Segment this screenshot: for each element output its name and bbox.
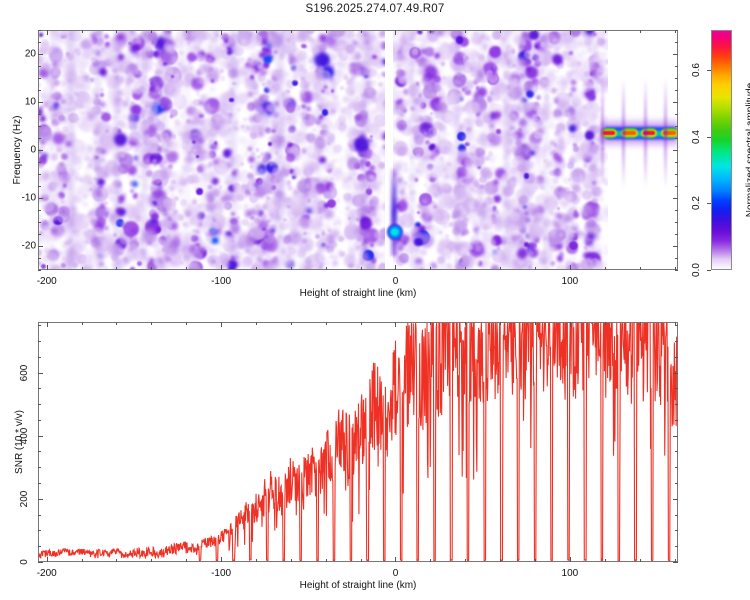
spectrogram-speckle — [369, 175, 372, 178]
spectrogram-speckle — [245, 249, 250, 254]
snr-xticklabel: 0 — [393, 568, 399, 579]
spectrogram-xtick — [221, 30, 222, 35]
snr-ytick-minor — [675, 451, 678, 452]
spectrogram-speckle — [417, 134, 425, 142]
spectrogram-speckle — [337, 155, 347, 165]
spectrogram-speckle — [399, 112, 404, 117]
spectrogram-xtick-minor — [430, 267, 431, 270]
snr-ytick-minor — [38, 341, 41, 342]
spectrogram-speckle — [107, 225, 113, 231]
spectrogram-speckle — [338, 123, 348, 133]
spectrogram-speckle — [377, 238, 386, 247]
spectrogram-speckle — [529, 30, 539, 40]
spectrogram-speckle — [367, 209, 375, 217]
spectrogram-ytick — [38, 54, 43, 55]
spectrogram-speckle — [556, 213, 562, 219]
spectrogram-speckle — [237, 194, 244, 201]
spectrogram-speckle — [420, 249, 427, 256]
spectrogram-xticklabel: 100 — [562, 276, 579, 287]
spectrogram-speckle — [578, 90, 581, 93]
snr-xtick-minor — [430, 559, 431, 562]
spectrogram-yticklabel: 10 — [16, 97, 36, 108]
spectrogram-xtick-minor — [535, 267, 536, 270]
spectrogram-speckle — [598, 197, 604, 203]
spectrogram-speckle — [578, 242, 583, 247]
spectrogram-speckle — [529, 251, 532, 254]
spectrogram-speckle — [450, 90, 453, 93]
spectrogram-speckle — [596, 54, 601, 59]
spectrogram-speckle — [244, 152, 248, 156]
spectrogram-speckle — [38, 214, 43, 220]
colorbar-ticklabel: 0.4 — [691, 130, 702, 144]
spectrogram-speckle — [336, 199, 340, 203]
snr-xtick — [221, 322, 222, 327]
snr-ytick-minor — [675, 341, 678, 342]
spectrogram-vertical-band — [142, 30, 147, 270]
spectrogram-speckle — [266, 104, 274, 112]
spectrogram-speckle — [563, 178, 568, 183]
spectrogram-speckle — [191, 44, 202, 55]
spectrogram-speckle — [461, 232, 465, 236]
spectrogram-xtick-minor — [82, 30, 83, 33]
spectrogram-speckle — [553, 179, 556, 182]
spectrogram-xtick-minor — [500, 267, 501, 270]
spectrogram-speckle — [260, 69, 265, 74]
spectrogram-yticklabel: -20 — [16, 241, 36, 252]
spectrogram-speckle — [431, 80, 435, 84]
spectrogram-vertical-band — [51, 30, 54, 270]
spectrogram-ytick — [38, 102, 43, 103]
spectrogram-speckle — [398, 246, 403, 251]
snr-xtick-minor — [361, 559, 362, 562]
spectrogram-speckle — [423, 156, 427, 160]
spectrogram-ytick-minor — [675, 234, 678, 235]
spectrogram-vertical-band — [348, 30, 353, 270]
spectrogram-speckle — [338, 60, 342, 64]
spectrogram-speckle — [305, 183, 311, 189]
spectrogram-speckle — [579, 231, 585, 237]
spectrogram-ytick-minor — [675, 222, 678, 223]
spectrogram-speckle — [221, 76, 226, 81]
spectrogram-ytick-minor — [38, 234, 41, 235]
spectrogram-speckle — [156, 258, 160, 262]
spectrogram-ytick — [673, 246, 678, 247]
spectrogram-speckle — [563, 98, 566, 101]
spectrogram-speckle — [577, 62, 580, 65]
spectrogram-speckle — [82, 221, 89, 228]
spectrogram-speckle — [487, 197, 494, 204]
spectrogram-vertical-band — [303, 30, 306, 270]
spectrogram-vertical-band — [482, 30, 484, 270]
snr-ytick-minor — [38, 388, 41, 389]
snr-xtick-minor — [465, 559, 466, 562]
spectrogram-xticklabel: -100 — [211, 276, 231, 287]
spectrogram-speckle — [130, 267, 134, 270]
spectrogram-speckle — [239, 230, 242, 233]
spectrogram-vertical-band — [317, 30, 321, 270]
snr-xtick — [395, 322, 396, 327]
spectrogram-vertical-band — [230, 30, 237, 270]
spectrogram-speckle — [171, 256, 182, 267]
spectrogram-speckle — [85, 167, 89, 171]
spectrogram-speckle — [338, 236, 344, 242]
spectrogram-speckle — [421, 108, 426, 113]
spectrogram-xtick-minor — [151, 30, 152, 33]
spectrogram-speckle — [550, 185, 555, 190]
spectrogram-xtick-minor — [151, 267, 152, 270]
spectrogram-speckle — [129, 63, 137, 71]
spectrogram-speckle — [260, 148, 263, 151]
spectrogram-speckle — [548, 59, 551, 62]
spectrogram-speckle — [340, 86, 344, 90]
snr-panel — [38, 322, 678, 562]
spectrogram-speckle — [486, 192, 489, 195]
spectrogram-speckle — [87, 87, 91, 91]
spectrogram-speckle — [415, 58, 418, 61]
spectrogram-speckle — [469, 184, 474, 189]
snr-xtick-minor — [151, 322, 152, 325]
spectrogram-speckle — [324, 203, 329, 208]
spectrogram-speckle — [562, 250, 566, 254]
spectrogram-speckle — [424, 90, 431, 97]
spectrogram-speckle — [549, 110, 554, 115]
spectrogram-speckle — [130, 45, 138, 53]
snr-xtick-minor — [151, 559, 152, 562]
spectrogram-speckle — [192, 107, 196, 111]
spectrogram-speckle — [492, 86, 501, 95]
spectrogram-speckle — [88, 113, 94, 119]
spectrogram-xtick-minor — [605, 267, 606, 270]
spectrogram-speckle — [101, 187, 108, 194]
spectrogram-speckle — [221, 33, 229, 41]
spectrogram-speckle — [488, 151, 494, 157]
spectrogram-speckle — [562, 164, 565, 167]
spectrogram-speckle — [152, 124, 156, 128]
spectrogram-speckle — [295, 99, 299, 103]
spectrogram-speckle — [266, 254, 270, 258]
spectrogram-speckle — [172, 58, 175, 61]
spectrogram-speckle — [560, 172, 565, 177]
spectrogram-xtick-minor — [640, 267, 641, 270]
spectrogram-xtick — [395, 265, 396, 270]
spectrogram-speckle — [39, 163, 44, 168]
spectrogram-speckle — [319, 70, 331, 82]
spectrogram-speckle — [122, 203, 125, 206]
spectrogram-ytick-minor — [675, 30, 678, 31]
spectrogram-speckle — [62, 89, 67, 94]
spectrogram-speckle — [489, 46, 501, 58]
snr-ytick — [38, 562, 43, 563]
spectrogram-speckle — [475, 261, 479, 265]
spectrogram-speckle — [492, 241, 496, 245]
spectrogram-speckle — [168, 171, 177, 180]
spectrogram-ytick-minor — [675, 126, 678, 127]
spectrogram-speckle — [532, 118, 542, 128]
spectrogram-speckle — [196, 90, 199, 93]
spectrogram-speckle — [567, 72, 571, 76]
spectrogram-streak-sideband — [644, 78, 647, 188]
snr-ytick-minor — [38, 546, 41, 547]
spectrogram-streak-sideband — [601, 78, 604, 188]
spectrogram-xtick — [570, 265, 571, 270]
snr-xticklabel: -200 — [37, 568, 57, 579]
spectrogram-ytick — [38, 198, 43, 199]
spectrogram-speckle — [196, 54, 203, 61]
spectrogram-speckle — [53, 87, 58, 92]
spectrogram-ytick-minor — [675, 270, 678, 271]
spectrogram-speckle — [194, 187, 198, 191]
spectrogram-ytick-minor — [675, 138, 678, 139]
spectrogram-speckle — [466, 107, 475, 116]
spectrogram-speckle — [399, 189, 405, 195]
spectrogram-speckle — [54, 80, 60, 86]
snr-ytick — [38, 373, 43, 374]
spectrogram-speckle — [403, 49, 409, 55]
spectrogram-speckle — [416, 170, 423, 177]
spectrogram-vertical-band — [572, 30, 576, 270]
spectrogram-speckle — [377, 74, 381, 78]
spectrogram-speckle — [171, 222, 178, 229]
snr-xtick-minor — [291, 322, 292, 325]
spectrogram-xtick-minor — [291, 30, 292, 33]
spectrogram-speckle — [560, 84, 568, 92]
spectrogram-speckle — [242, 267, 246, 270]
spectrogram-ytick — [38, 150, 43, 151]
spectrogram-speckle — [77, 63, 87, 73]
spectrogram-speckle — [334, 69, 342, 77]
spectrogram-xtick-minor — [326, 30, 327, 33]
colorbar-ticklabel: 0.0 — [691, 263, 702, 277]
spectrogram-speckle — [169, 188, 172, 191]
spectrogram-speckle — [39, 33, 43, 37]
spectrogram-speckle — [258, 220, 268, 230]
snr-xtick-minor — [186, 559, 187, 562]
spectrogram-speckle — [354, 241, 357, 244]
spectrogram-ytick-minor — [38, 30, 41, 31]
spectrogram-speckle — [151, 213, 159, 221]
spectrogram-vertical-band — [67, 30, 75, 270]
spectrogram-speckle — [87, 119, 95, 127]
spectrogram-speckle — [120, 153, 125, 158]
spectrogram-speckle — [240, 165, 244, 169]
spectrogram-vertical-band — [590, 30, 597, 270]
spectrogram-xtick-minor — [500, 30, 501, 33]
snr-ytick-minor — [675, 515, 678, 516]
spectrogram-speckle — [448, 132, 452, 136]
spectrogram-speckle — [127, 214, 133, 220]
spectrogram-vertical-band — [522, 30, 528, 270]
spectrogram-speckle — [128, 198, 132, 202]
spectrogram-speckle — [307, 198, 312, 203]
spectrogram-speckle — [397, 177, 403, 183]
snr-xlabel: Height of straight line (km) — [300, 580, 417, 591]
spectrogram-streak-sideband — [622, 78, 625, 188]
spectrogram-speckle — [267, 174, 272, 179]
figure-title: S196.2025.274.07.49.R07 — [0, 3, 750, 15]
figure-root: S196.2025.274.07.49.R07 -200-1000100-20-… — [0, 0, 750, 600]
spectrogram-speckle — [171, 75, 174, 78]
spectrogram-speckle — [509, 241, 518, 250]
spectrogram-speckle — [486, 111, 490, 115]
snr-xtick-minor — [500, 322, 501, 325]
spectrogram-ytick-minor — [675, 258, 678, 259]
spectrogram-ytick-minor — [38, 162, 41, 163]
spectrogram-speckle — [238, 30, 242, 33]
spectrogram-speckle — [80, 50, 95, 65]
spectrogram-speckle — [552, 117, 556, 121]
spectrogram-speckle — [38, 97, 40, 101]
colorbar-frame — [711, 30, 732, 270]
spectrogram-speckle — [536, 95, 541, 100]
spectrogram-speckle — [446, 255, 451, 260]
spectrogram-speckle — [336, 49, 342, 55]
spectrogram-speckle — [561, 192, 566, 197]
spectrogram-speckle — [195, 246, 198, 249]
spectrogram-speckle — [41, 264, 47, 270]
spectrogram-speckle — [534, 132, 541, 139]
spectrogram-speckle — [269, 218, 273, 222]
spectrogram-speckle — [38, 231, 46, 240]
spectrogram-speckle — [511, 224, 517, 230]
spectrogram-speckle — [132, 175, 136, 179]
spectrogram-speckle — [77, 94, 91, 108]
noise-speckle-layer — [38, 30, 678, 270]
spectrogram-speckle — [548, 146, 552, 150]
spectrogram-speckle — [446, 30, 450, 34]
snr-xtick — [47, 322, 48, 327]
spectrogram-speckle — [216, 110, 220, 114]
spectrogram-speckle — [431, 183, 437, 189]
spectrogram-speckle — [379, 253, 383, 257]
spectrogram-speckle — [257, 64, 261, 68]
spectrogram-ytick-minor — [675, 210, 678, 211]
spectrogram-ytick-minor — [38, 114, 41, 115]
spectrogram-xtick — [570, 30, 571, 35]
spectrogram-speckle — [240, 35, 244, 39]
spectrogram-xticklabel: -200 — [37, 276, 57, 287]
spectrogram-vertical-band — [276, 30, 284, 270]
colorbar-ticklabel: 0.6 — [691, 63, 702, 77]
spectrogram-speckle — [38, 115, 42, 120]
spectrogram-speckle — [60, 207, 67, 214]
spectrogram-speckle — [123, 221, 139, 237]
spectrogram-ytick — [673, 198, 678, 199]
spectrogram-ytick-minor — [38, 258, 41, 259]
spectrogram-xtick — [47, 265, 48, 270]
spectrogram-speckle — [266, 128, 270, 132]
snr-ytick-minor — [675, 325, 678, 326]
spectrogram-speckle — [551, 151, 555, 155]
spectrogram-ytick-minor — [38, 66, 41, 67]
spectrogram-speckle — [287, 185, 293, 191]
spectrogram-speckle — [288, 230, 302, 244]
snr-xticklabel: -100 — [211, 568, 231, 579]
snr-ytick-minor — [675, 546, 678, 547]
spectrogram-ytick-minor — [38, 186, 41, 187]
snr-ytick-minor — [675, 388, 678, 389]
snr-ytick-minor — [675, 404, 678, 405]
snr-xtick — [221, 557, 222, 562]
spectrogram-speckle — [219, 185, 222, 188]
spectrogram-speckle — [219, 251, 223, 255]
spectrogram-speckle — [265, 96, 269, 100]
spectrogram-speckle — [404, 150, 410, 156]
spectrogram-speckle — [75, 43, 81, 49]
spectrogram-speckle — [61, 81, 65, 85]
spectrogram-speckle — [371, 80, 377, 86]
spectrogram-speckle — [197, 237, 201, 241]
spectrogram-xtick-minor — [465, 30, 466, 33]
spectrogram-speckle — [77, 155, 82, 160]
spectrogram-speckle — [218, 178, 221, 181]
spectrogram-ytick-minor — [38, 42, 41, 43]
spectrogram-speckle — [81, 126, 85, 130]
colorbar-tick — [707, 70, 711, 71]
spectrogram-speckle — [597, 38, 604, 45]
spectrogram-speckle — [242, 70, 247, 75]
snr-xtick-minor — [326, 559, 327, 562]
spectrogram-speckle — [552, 220, 558, 226]
spectrogram-speckle — [55, 94, 58, 97]
snr-ytick-minor — [38, 467, 41, 468]
spectrogram-speckle — [262, 83, 265, 86]
spectrogram-speckle — [430, 112, 433, 115]
spectrogram-speckle — [148, 263, 151, 266]
spectrogram-speckle — [199, 114, 203, 118]
spectrogram-speckle — [104, 34, 109, 39]
spectrogram-speckle — [463, 134, 472, 143]
colorbar — [711, 30, 732, 270]
spectrogram-speckle — [437, 139, 452, 154]
snr-yticklabel: 200 — [19, 490, 30, 507]
spectrogram-xtick-minor — [82, 267, 83, 270]
snr-ytick-minor — [38, 420, 41, 421]
spectrogram-speckle — [220, 69, 224, 73]
spectrogram-speckle — [513, 260, 517, 264]
snr-xtick — [570, 557, 571, 562]
spectrogram-speckle — [127, 175, 130, 178]
spectrogram-speckle — [286, 90, 289, 93]
spectrogram-vertical-band — [455, 30, 460, 270]
spectrogram-speckle — [496, 129, 501, 134]
snr-ytick-minor — [38, 483, 41, 484]
spectrogram-vertical-band — [411, 30, 414, 270]
spectrogram-speckle — [553, 170, 557, 174]
spectrogram-speckle — [236, 97, 245, 106]
snr-xtick-minor — [500, 559, 501, 562]
spectrogram-speckle — [149, 78, 154, 83]
spectrogram-speckle — [213, 162, 229, 178]
spectrogram-vertical-band — [441, 30, 443, 270]
spectrogram-speckle — [511, 235, 517, 241]
spectrogram-ytick-minor — [38, 210, 41, 211]
spectrogram-speckle — [413, 128, 419, 134]
spectrogram-speckle — [60, 73, 65, 78]
snr-ytick-minor — [675, 357, 678, 358]
snr-ytick — [673, 373, 678, 374]
spectrogram-speckle — [43, 63, 48, 68]
snr-ytick — [673, 499, 678, 500]
snr-xtick-minor — [186, 322, 187, 325]
spectrogram-speckle — [288, 126, 294, 132]
spectrogram-xtick-minor — [116, 30, 117, 33]
spectrogram-speckle — [459, 221, 466, 228]
spectrogram-streak-core — [603, 131, 615, 135]
colorbar-tick — [707, 137, 711, 138]
spectrogram-vertical-band — [114, 30, 121, 270]
spectrogram-speckle — [39, 69, 48, 78]
spectrogram-speckle — [268, 142, 272, 146]
